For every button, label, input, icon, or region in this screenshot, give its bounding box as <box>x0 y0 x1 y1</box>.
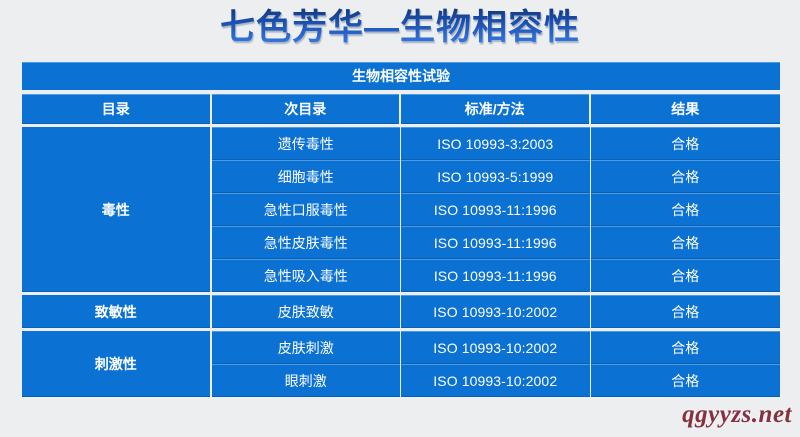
cell-subcategory: 眼刺激 <box>212 364 402 397</box>
cell-standard: ISO 10993-10:2002 <box>401 292 591 328</box>
table-row: 刺激性 皮肤刺激 ISO 10993-10:2002 合格 <box>22 328 780 364</box>
cell-subcategory: 细胞毒性 <box>212 160 402 193</box>
cell-standard: ISO 10993-10:2002 <box>401 364 591 397</box>
cell-category: 毒性 <box>22 124 212 292</box>
cell-subcategory: 皮肤刺激 <box>212 328 402 364</box>
table-body: 生物相容性试验 目录 次目录 标准/方法 结果 毒性 遗传毒性 ISO 1099… <box>22 62 780 397</box>
cell-result: 合格 <box>591 292 781 328</box>
cell-subcategory: 皮肤致敏 <box>212 292 402 328</box>
biocompatibility-table: 生物相容性试验 目录 次目录 标准/方法 结果 毒性 遗传毒性 ISO 1099… <box>22 62 780 397</box>
table-row: 致敏性 皮肤致敏 ISO 10993-10:2002 合格 <box>22 292 780 328</box>
column-header-result: 结果 <box>591 94 781 124</box>
cell-standard: ISO 10993-3:2003 <box>401 124 591 160</box>
cell-standard: ISO 10993-11:1996 <box>401 259 591 292</box>
cell-subcategory: 遗传毒性 <box>212 124 402 160</box>
cell-subcategory: 急性吸入毒性 <box>212 259 402 292</box>
cell-result: 合格 <box>591 124 781 160</box>
cell-result: 合格 <box>591 193 781 226</box>
cell-result: 合格 <box>591 226 781 259</box>
table-row: 毒性 遗传毒性 ISO 10993-3:2003 合格 <box>22 124 780 160</box>
cell-standard: ISO 10993-11:1996 <box>401 193 591 226</box>
cell-subcategory: 急性皮肤毒性 <box>212 226 402 259</box>
site-watermark: qgyyzs.net <box>682 401 792 429</box>
page-title: 七色芳华—生物相容性 <box>0 2 800 54</box>
column-header-subcategory: 次目录 <box>212 94 402 124</box>
cell-standard: ISO 10993-5:1999 <box>401 160 591 193</box>
column-header-standard: 标准/方法 <box>401 94 591 124</box>
cell-standard: ISO 10993-11:1996 <box>401 226 591 259</box>
cell-result: 合格 <box>591 328 781 364</box>
cell-result: 合格 <box>591 160 781 193</box>
cell-standard: ISO 10993-10:2002 <box>401 328 591 364</box>
cell-result: 合格 <box>591 259 781 292</box>
column-header-category: 目录 <box>22 94 212 124</box>
cell-subcategory: 急性口服毒性 <box>212 193 402 226</box>
table-header-row: 目录 次目录 标准/方法 结果 <box>22 94 780 124</box>
table-caption-row: 生物相容性试验 <box>22 62 780 94</box>
cell-result: 合格 <box>591 364 781 397</box>
table-caption: 生物相容性试验 <box>22 62 780 94</box>
cell-category: 刺激性 <box>22 328 212 397</box>
cell-category: 致敏性 <box>22 292 212 328</box>
